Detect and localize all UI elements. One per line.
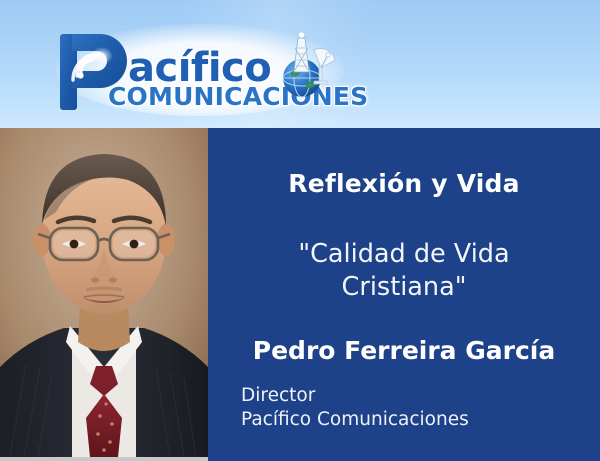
bottom-border-panel (208, 457, 600, 461)
portrait-photo-image (0, 128, 208, 457)
portrait-photo (0, 128, 208, 457)
speaker-affiliation: Director Pacífico Comunicaciones (241, 384, 581, 433)
quote-line-1: "Calidad de Vida (298, 239, 509, 269)
header-banner: acífico COMUNICACIONES (0, 0, 600, 128)
speaker-role: Director (241, 384, 581, 408)
speaker-name: Pedro Ferreira García (208, 337, 600, 365)
quote-line-2: Cristiana" (342, 272, 467, 302)
quote-text: "Calidad de Vida Cristiana" (208, 238, 600, 303)
speaker-organization: Pacífico Comunicaciones (241, 408, 581, 432)
globe-satellite-icon (274, 28, 346, 100)
slide-container: acífico COMUNICACIONES (0, 0, 600, 461)
logo: acífico COMUNICACIONES (52, 22, 352, 118)
text-panel: Reflexión y Vida "Calidad de Vida Cristi… (208, 128, 600, 457)
page-title: Reflexión y Vida (208, 170, 600, 198)
